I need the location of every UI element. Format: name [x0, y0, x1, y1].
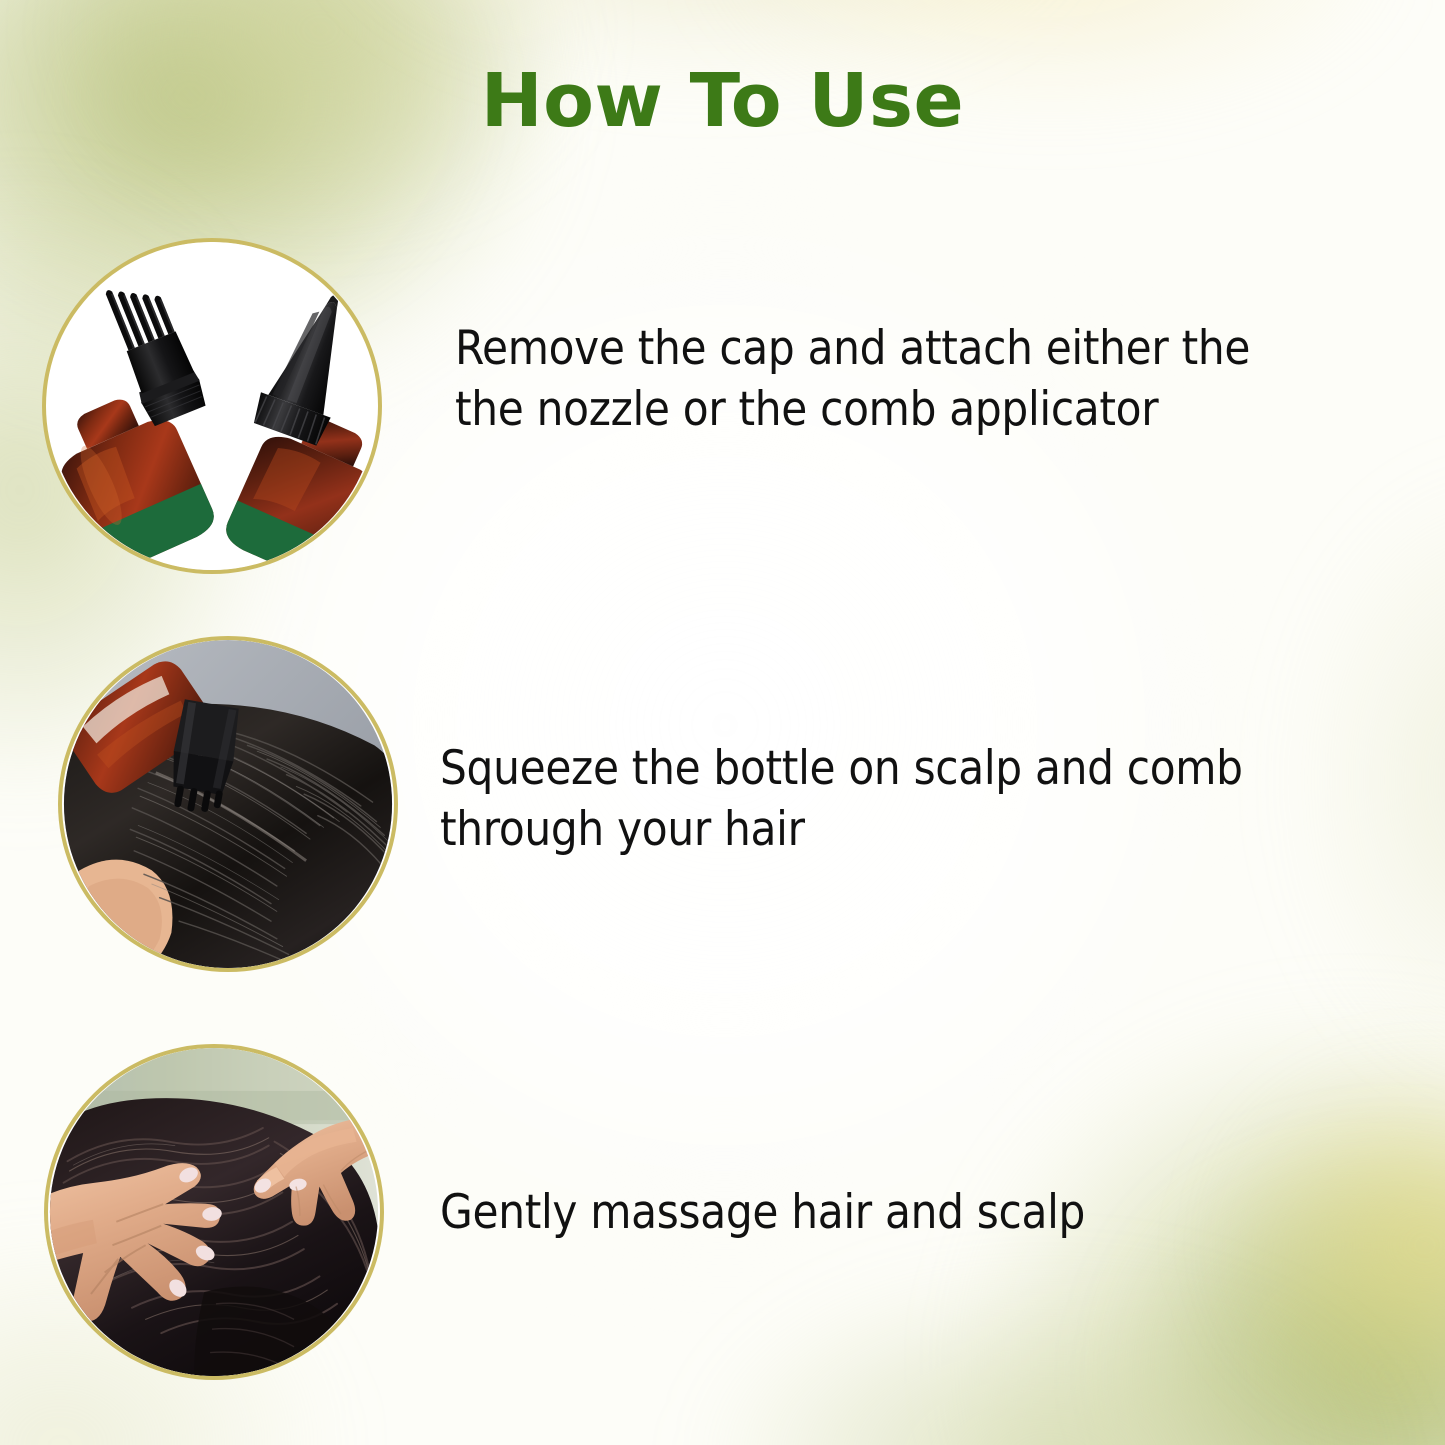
applying-to-scalp-photo	[62, 640, 394, 968]
how-to-use-infographic: How To Use	[0, 0, 1445, 1445]
step-1-image-circle	[42, 238, 382, 574]
step-1	[42, 238, 382, 574]
step-3-caption: Gently massage hair and scalp	[440, 1182, 1200, 1243]
step-2-caption: Squeeze the bottle on scalp and comb thr…	[440, 738, 1320, 860]
step-1-caption: Remove the cap and attach either the the…	[455, 318, 1325, 440]
bottle-applicators-photo	[46, 242, 378, 570]
page-title: How To Use	[0, 58, 1445, 144]
step-3-image-circle	[44, 1044, 384, 1380]
massaging-scalp-photo	[48, 1048, 380, 1376]
step-3	[44, 1044, 384, 1380]
step-2-image-circle	[58, 636, 398, 972]
step-2	[58, 636, 398, 972]
